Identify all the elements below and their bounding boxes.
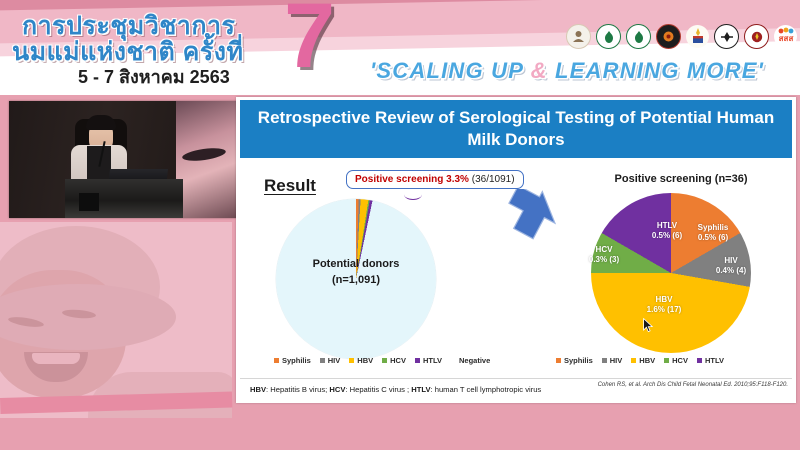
pie-segment-label-syphilis: Syphilis 0.5% (6) [685,223,741,243]
legend-label-hcv: HCV [390,356,406,365]
callout-fraction-text: (36/1091) [472,174,515,185]
legend-right: SyphilisHIVHBVHCVHTLV [556,356,724,365]
footnote-hcv-text: : Hepatitis C virus ; [345,385,411,394]
logo-red-crest [744,24,769,49]
result-heading: Result [264,176,316,196]
legend-item-htlv[interactable]: HTLV [415,356,442,365]
logo-ministry-public-health-1 [596,24,621,49]
legend-label-htlv: HTLV [423,356,442,365]
legend-item-hbv[interactable]: HBV [349,356,373,365]
legend-swatch-syphilis [556,358,561,363]
sponsor-logo-row: สสส [566,24,797,49]
pie-left-label-line1: Potential donors [276,257,436,273]
pie-segment-label-hbv: HBV 1.6% (17) [636,295,692,315]
legend-item-hbv[interactable]: HBV [631,356,655,365]
conference-tagline: 'SCALING UP & LEARNING MORE' [370,58,764,84]
legend-item-syphilis[interactable]: Syphilis [274,356,311,365]
segment-syphilis-name: Syphilis [685,223,741,233]
slide-title: Retrospective Review of Serological Test… [240,100,792,158]
segment-hbv-value: 1.6% (17) [636,305,692,315]
abbreviation-footnote: HBV: Hepatitis B virus; HCV: Hepatitis C… [240,385,541,394]
segment-hiv-name: HIV [706,256,756,266]
callout-highlight-text: Positive screening 3.3% [355,174,469,185]
pie-right-title: Positive screening (n=36) [566,173,796,185]
positive-screening-callout: Positive screening 3.3% (36/1091) [346,170,524,189]
footnote-hbv-key: HBV [250,385,266,394]
legend-label-hiv: HIV [610,356,623,365]
legend-label-htlv: HTLV [705,356,724,365]
legend-item-hcv[interactable]: HCV [382,356,406,365]
pie-segment-label-hcv: HCV 0.3% (3) [582,245,626,265]
conference-date: 5 - 7 สิงหาคม 2563 [78,62,230,91]
pie-left-center-label: Potential donors (n=1,091) [276,257,436,289]
legend-item-syphilis[interactable]: Syphilis [556,356,593,365]
legend-label-syphilis: Syphilis [564,356,593,365]
legend-label-hcv: HCV [672,356,688,365]
legend-item-hcv[interactable]: HCV [664,356,688,365]
speaker-video-inset[interactable] [9,101,237,218]
legend-swatch-hcv [382,358,387,363]
legend-swatch-htlv [415,358,420,363]
baby-watermark-photo [0,222,232,418]
legend-swatch-hiv [320,358,325,363]
footnote-htlv-key: HTLV [411,385,430,394]
logo-ministry-public-health-2 [626,24,651,49]
legend-label-hbv: HBV [357,356,373,365]
segment-hiv-value: 0.4% (4) [706,266,756,276]
logo-black-emblem [714,24,739,49]
svg-text:สสส: สสส [778,34,793,43]
video-projection-screen [176,101,237,218]
tagline-part2: LEARNING MORE' [548,58,764,83]
presentation-slide: Retrospective Review of Serological Test… [236,97,796,403]
legend-left: SyphilisHIVHBVHCVHTLVNegative [274,356,490,365]
legend-swatch-hbv [349,358,354,363]
legend-swatch-hiv [602,358,607,363]
segment-syphilis-value: 0.5% (6) [685,233,741,243]
legend-item-hiv[interactable]: HIV [320,356,341,365]
podium [65,179,183,218]
legend-label-negative: Negative [459,356,490,365]
pie-segment-label-hiv: HIV 0.4% (4) [706,256,756,276]
footnote-htlv-text: : human T cell lymphotropic virus [431,385,542,394]
source-citation: Cohen RS, et al. Arch Dis Child Fetal Ne… [598,382,788,388]
segment-hcv-name: HCV [582,245,626,255]
speaker-hair-top [86,115,116,130]
legend-item-hiv[interactable]: HIV [602,356,623,365]
legend-item-negative[interactable]: Negative [451,356,490,365]
screen-root: การประชุมวิชาการ นมแม่แห่งชาติ ครั้งที่ … [0,0,800,450]
mouse-cursor-icon [643,318,654,333]
footnote-hbv-text: : Hepatitis B virus; [266,385,329,394]
callout-pointer [404,189,422,200]
logo-royal-crest-flag [686,25,709,48]
legend-swatch-hcv [664,358,669,363]
logo-thaihealth-sss: สสส [774,25,797,48]
transition-arrow-icon [504,189,558,241]
legend-label-hiv: HIV [328,356,341,365]
legend-item-htlv[interactable]: HTLV [697,356,724,365]
baby-teeth [32,353,80,364]
legend-label-hbv: HBV [639,356,655,365]
tagline-part1: 'SCALING UP [370,58,531,83]
legend-label-syphilis: Syphilis [282,356,311,365]
pie-left-label-line2: (n=1,091) [276,273,436,289]
segment-hcv-value: 0.3% (3) [582,255,626,265]
legend-swatch-hbv [631,358,636,363]
legend-swatch-syphilis [274,358,279,363]
conference-edition-number: 7 [284,0,335,82]
conference-header-banner: การประชุมวิชาการ นมแม่แห่งชาติ ครั้งที่ … [0,0,800,95]
segment-hbv-name: HBV [636,295,692,305]
logo-royal-crest-orange [656,24,681,49]
legend-swatch-htlv [697,358,702,363]
logo-thai-royal-emblem [566,24,591,49]
footnote-hcv-key: HCV [329,385,345,394]
tagline-ampersand: & [531,58,548,83]
legend-swatch-negative [451,358,456,363]
